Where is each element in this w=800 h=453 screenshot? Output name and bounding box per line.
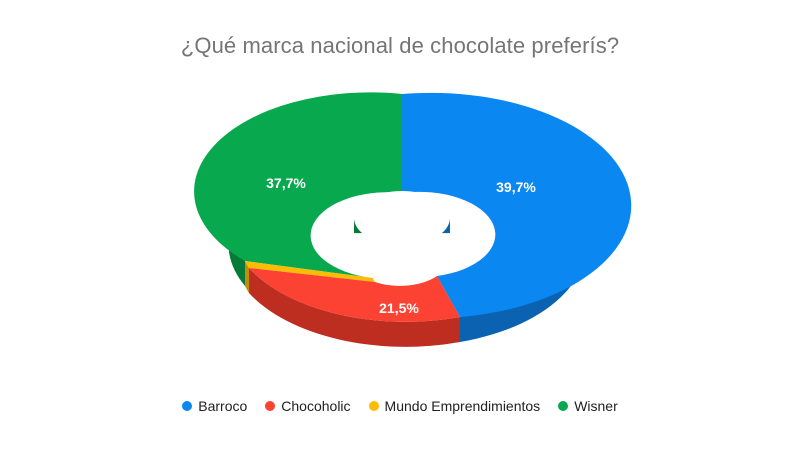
- legend-label-chocoholic: Chocoholic: [281, 398, 350, 414]
- pie-chart-svg: 39,7% 37,7% 21,5%: [0, 75, 800, 380]
- legend-swatch-wisner: [558, 401, 568, 411]
- legend-item-mundo-emprendimientos[interactable]: Mundo Emprendimientos: [369, 398, 541, 414]
- pie-chart-container: ¿Qué marca nacional de chocolate preferí…: [0, 0, 800, 453]
- legend-swatch-mundo-emprendimientos: [369, 401, 379, 411]
- legend-swatch-chocoholic: [265, 401, 275, 411]
- slice-label-chocoholic: 21,5%: [379, 300, 419, 316]
- chart-title: ¿Qué marca nacional de chocolate preferí…: [0, 33, 800, 59]
- donut-hole-floor: [354, 191, 450, 245]
- legend-item-chocoholic[interactable]: Chocoholic: [265, 398, 350, 414]
- legend-label-mundo-emprendimientos: Mundo Emprendimientos: [385, 398, 541, 414]
- legend-label-barroco: Barroco: [198, 398, 247, 414]
- pie-plot-area: 39,7% 37,7% 21,5%: [0, 75, 800, 380]
- chart-legend: Barroco Chocoholic Mundo Emprendimientos…: [0, 398, 800, 414]
- slice-label-wisner: 37,7%: [266, 175, 306, 191]
- legend-swatch-barroco: [182, 401, 192, 411]
- legend-label-wisner: Wisner: [574, 398, 618, 414]
- legend-item-barroco[interactable]: Barroco: [182, 398, 247, 414]
- slice-label-barroco: 39,7%: [496, 179, 536, 195]
- legend-item-wisner[interactable]: Wisner: [558, 398, 618, 414]
